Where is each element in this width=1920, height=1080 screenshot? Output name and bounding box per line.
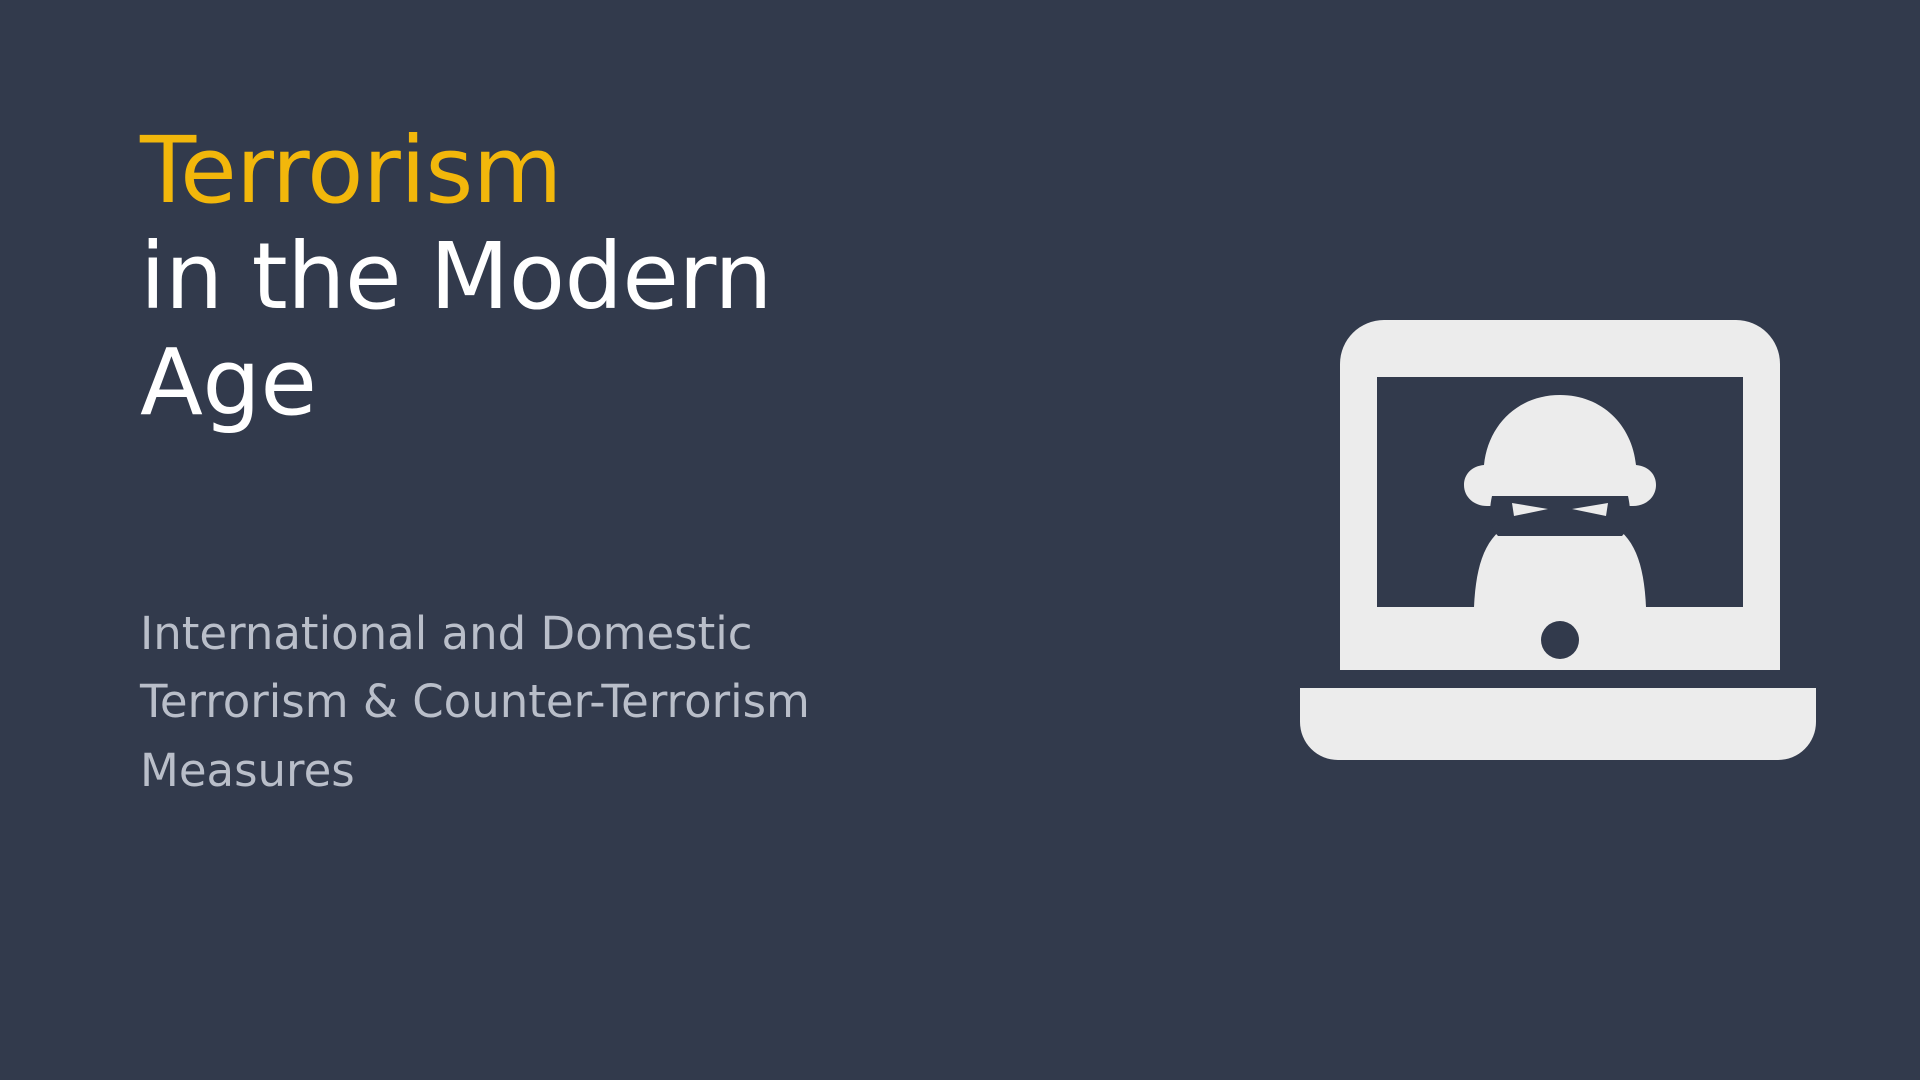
- page-title: Terrorism in the Modern Age: [140, 118, 1140, 435]
- subtitle-line-one: International and Domestic: [140, 600, 1120, 668]
- hacker-eye-mask: [1490, 496, 1630, 536]
- webcam-dot: [1541, 621, 1579, 659]
- page-subtitle: International and Domestic Terrorism & C…: [140, 600, 1120, 805]
- subtitle-line-three: Measures: [140, 737, 1120, 805]
- laptop-hacker-svg: [1288, 310, 1828, 780]
- laptop-base: [1300, 688, 1816, 760]
- subtitle-line-two: Terrorism & Counter-Terrorism: [140, 668, 1120, 736]
- laptop-with-masked-hacker-icon: [1288, 310, 1828, 780]
- title-line-accent: Terrorism: [140, 118, 1140, 224]
- slide-root: Terrorism in the Modern Age Internationa…: [0, 0, 1920, 1080]
- title-line-three: Age: [140, 330, 1140, 436]
- title-text-block: Terrorism in the Modern Age Internationa…: [140, 118, 1140, 435]
- title-line-two: in the Modern: [140, 224, 1140, 330]
